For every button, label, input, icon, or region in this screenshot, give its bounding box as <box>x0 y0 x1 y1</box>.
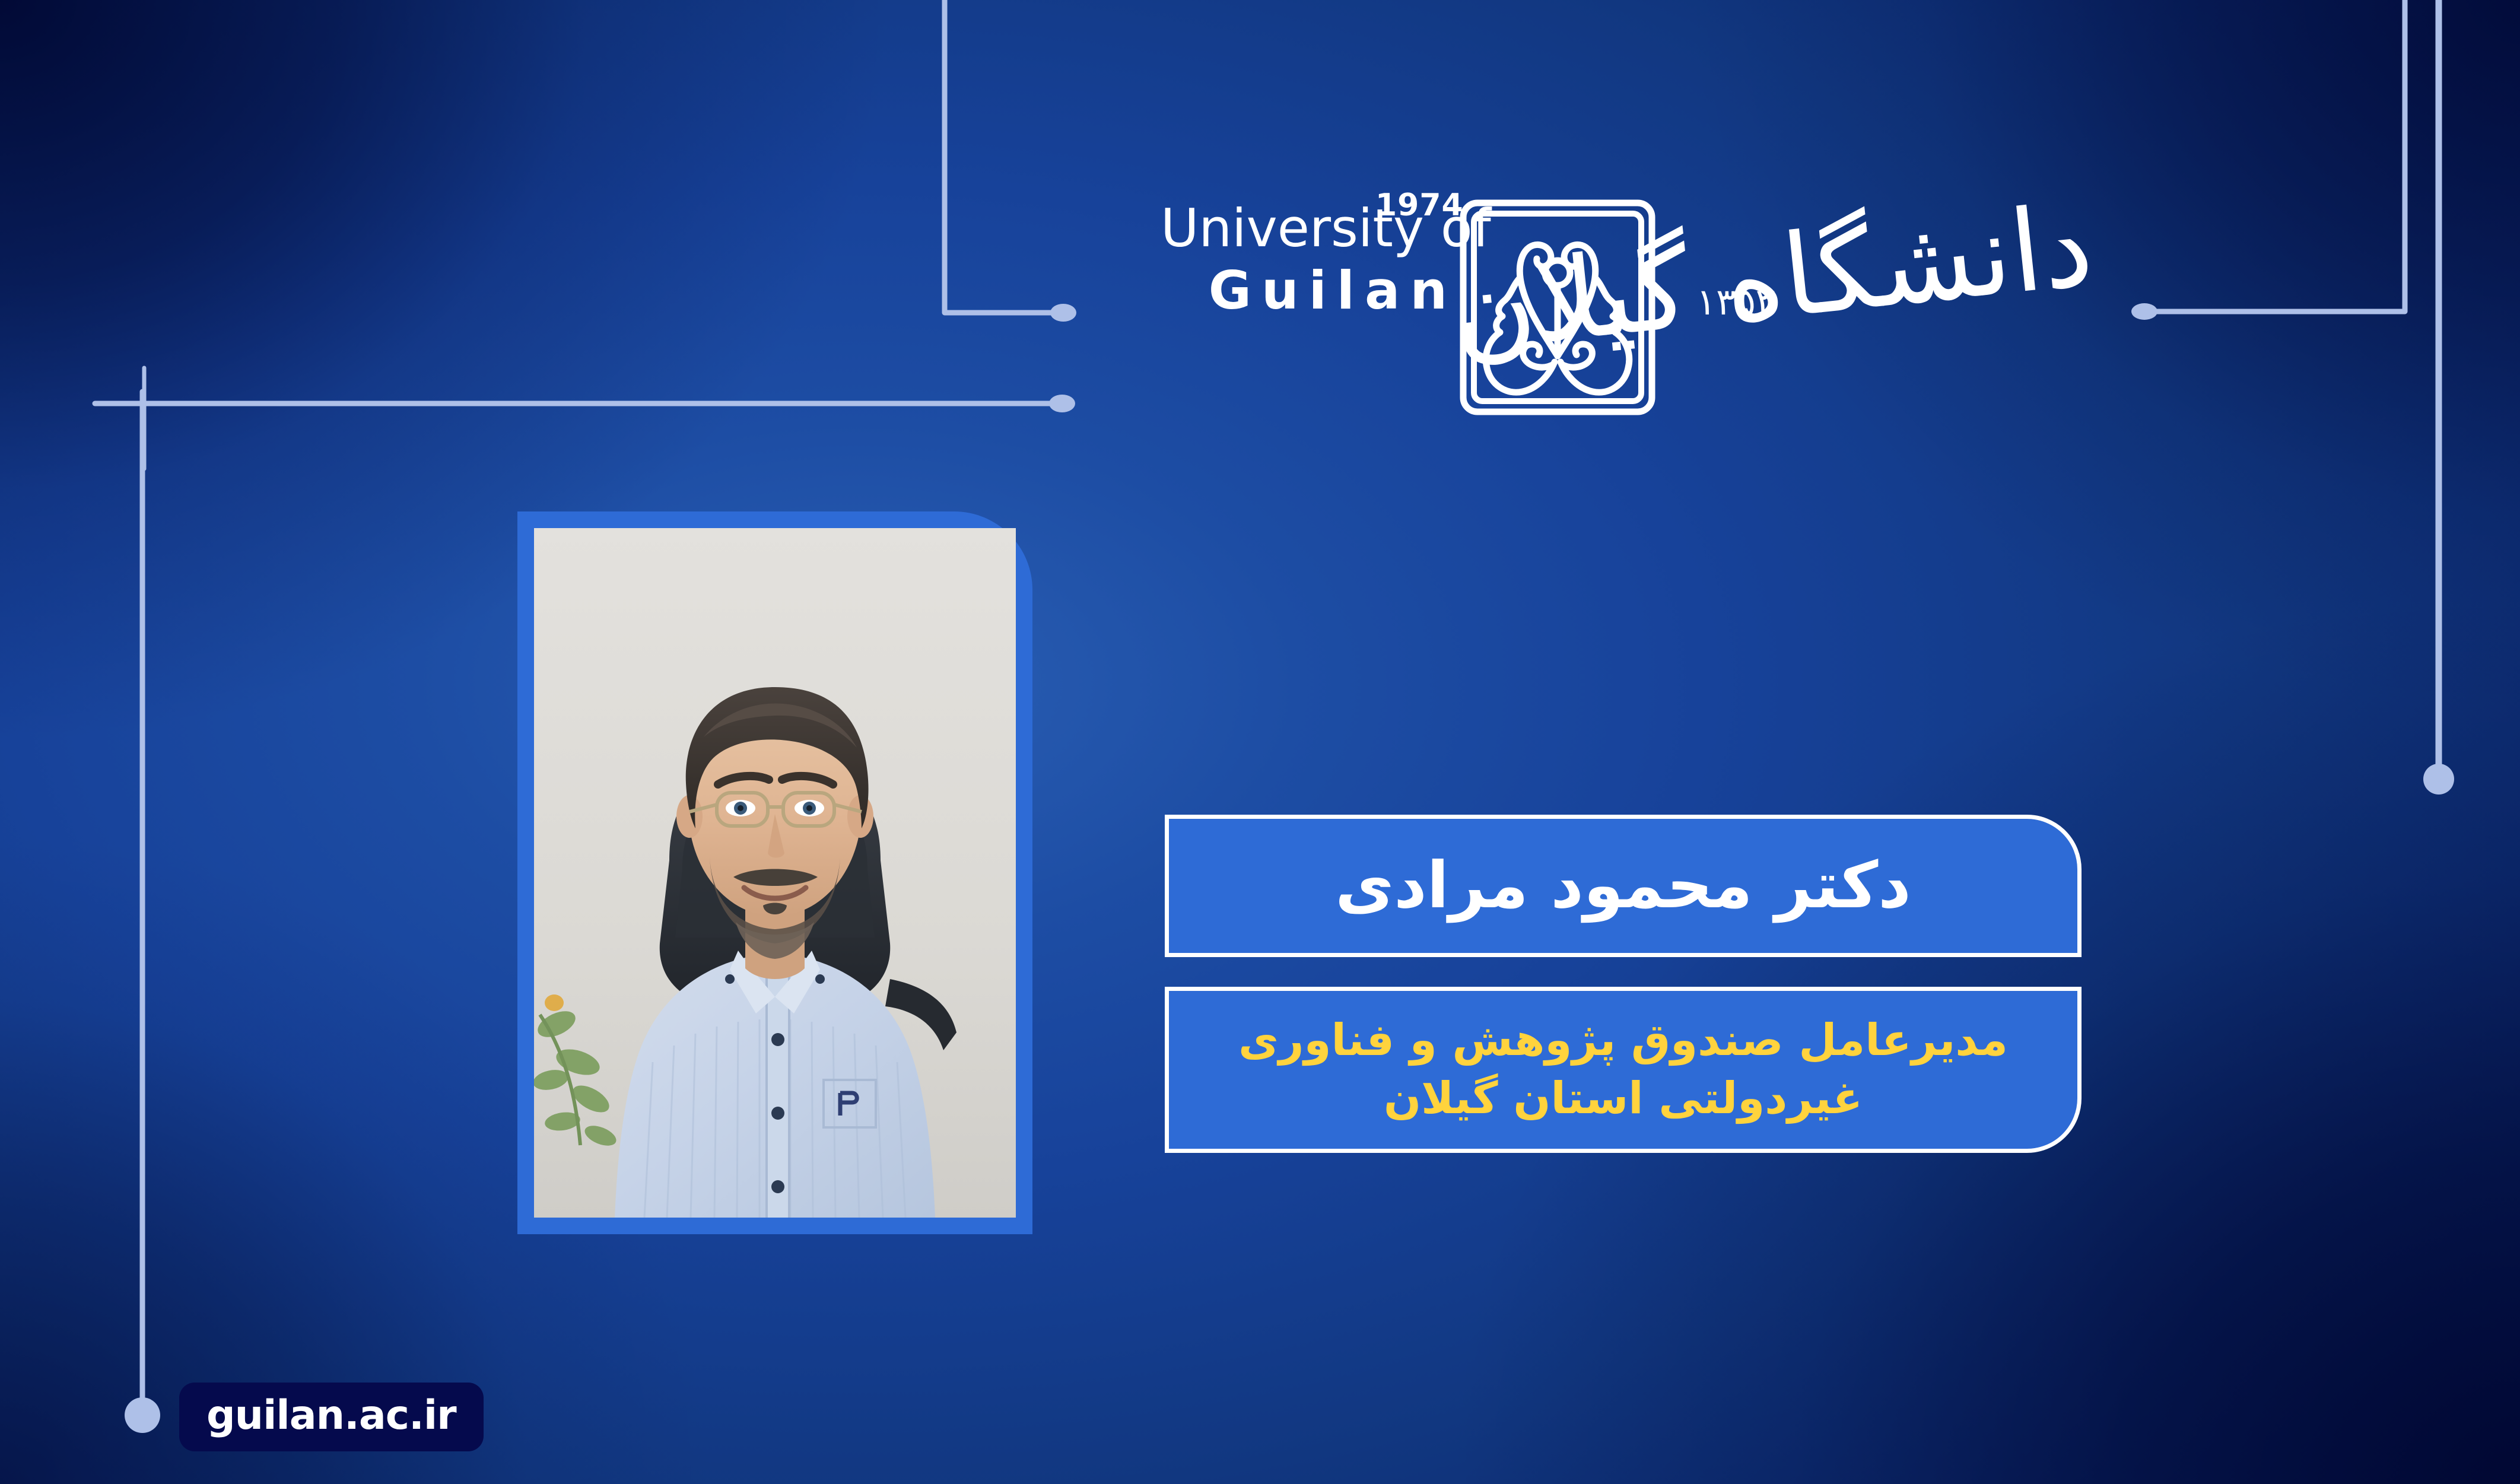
speaker-title-line2: غیردولتی استان گیلان <box>1384 1070 1863 1128</box>
poster-canvas: 1974 University of Guilan <box>0 0 2520 1484</box>
speaker-photo <box>534 528 1016 1218</box>
speaker-name-banner: دکتر محمود مرادی <box>1165 815 2082 957</box>
logo-english-line2: Guilan <box>1161 255 1457 319</box>
portrait-frame <box>517 511 1032 1234</box>
speaker-name: دکتر محمود مرادی <box>1335 851 1911 921</box>
logo-year-persian: ۱۳۵۳ <box>1696 284 1775 320</box>
website-badge[interactable]: guilan.ac.ir <box>179 1383 484 1451</box>
logo-english-line1: University of <box>1161 202 1457 255</box>
speaker-portrait-image <box>534 528 1016 1218</box>
university-logo: 1974 University of Guilan <box>1157 178 2095 427</box>
website-url: guilan.ac.ir <box>206 1392 456 1439</box>
logo-english-text: University of Guilan <box>1161 202 1457 319</box>
speaker-title-banner: مدیرعامل صندوق پژوهش و فناوری غیردولتی ا… <box>1165 987 2082 1153</box>
logo-persian-block: دانشگاه گیلان ۱۳۵۳ <box>1658 178 2092 427</box>
speaker-title-line1: مدیرعامل صندوق پژوهش و فناوری <box>1238 1012 2008 1070</box>
